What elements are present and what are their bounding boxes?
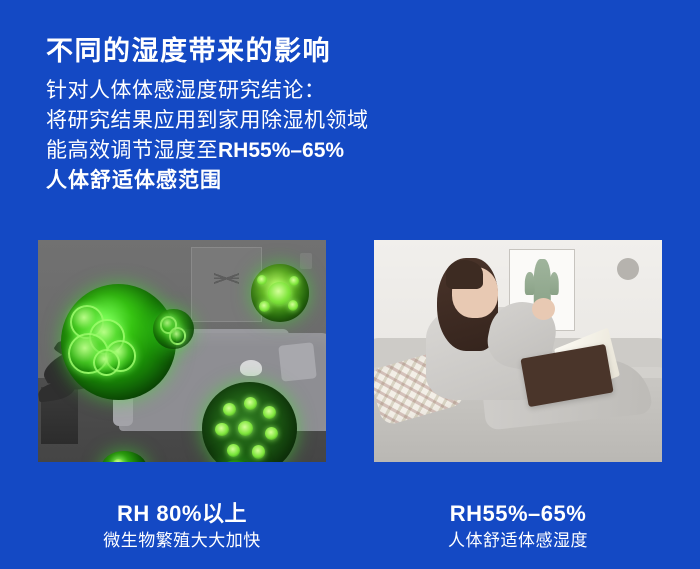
caption-high-humidity: RH 80%以上 微生物繁殖大大加快 bbox=[38, 500, 326, 554]
microbe-spike bbox=[227, 444, 240, 457]
intro-line-1: 针对人体体感湿度研究结论： bbox=[46, 76, 369, 106]
table-lamp bbox=[240, 360, 262, 376]
microbe-blob bbox=[93, 349, 120, 376]
caption-right-main: RH55%–65% bbox=[374, 500, 662, 528]
person-hair-top bbox=[446, 260, 483, 289]
intro-line-4: 人体舒适体感范围 bbox=[46, 166, 369, 196]
microbe-spike bbox=[288, 300, 298, 310]
dark-room-scene bbox=[38, 240, 326, 462]
photo-high-humidity bbox=[38, 240, 326, 462]
caption-left-sub: 微生物繁殖大大加快 bbox=[38, 528, 326, 554]
bright-room-scene bbox=[374, 240, 662, 462]
photo-comfort-humidity bbox=[374, 240, 662, 462]
microbe-spike bbox=[263, 406, 276, 419]
microbe-spike bbox=[223, 403, 236, 416]
microbe-spike bbox=[265, 427, 278, 440]
microbe-spike bbox=[252, 445, 265, 458]
intro-line-3: 能高效调节湿度至RH55%–65% bbox=[46, 136, 369, 166]
microbe-spike bbox=[215, 423, 228, 436]
intro-line-2: 将研究结果应用到家用除湿机领域 bbox=[46, 106, 369, 136]
wall-thermostat bbox=[617, 258, 639, 280]
sofa-cushion bbox=[278, 343, 316, 382]
intro-humidity-range: RH55%–65% bbox=[218, 139, 344, 162]
microbe-spike bbox=[238, 421, 253, 436]
humidity-infographic-poster: 不同的湿度带来的影响 针对人体体感湿度研究结论： 将研究结果应用到家用除湿机领域… bbox=[0, 0, 700, 569]
microbe-small bbox=[251, 264, 309, 322]
microbe-spike bbox=[289, 276, 299, 286]
microbe-edge bbox=[153, 309, 193, 349]
caption-right-sub: 人体舒适体感湿度 bbox=[374, 528, 662, 554]
wall-switch bbox=[300, 253, 312, 269]
microbe-spike bbox=[257, 275, 267, 285]
page-title: 不同的湿度带来的影响 bbox=[46, 35, 331, 69]
microbe-spike bbox=[244, 397, 257, 410]
caption-left-main: RH 80%以上 bbox=[38, 500, 326, 528]
microbe-blob bbox=[169, 327, 187, 345]
intro-paragraph: 针对人体体感湿度研究结论： 将研究结果应用到家用除湿机领域 能高效调节湿度至RH… bbox=[46, 76, 369, 196]
microbe-spike bbox=[113, 459, 124, 462]
intro-line-3-prefix: 能高效调节湿度至 bbox=[46, 139, 218, 162]
microbe-spike bbox=[259, 301, 269, 311]
caption-comfort-humidity: RH55%–65% 人体舒适体感湿度 bbox=[374, 500, 662, 554]
